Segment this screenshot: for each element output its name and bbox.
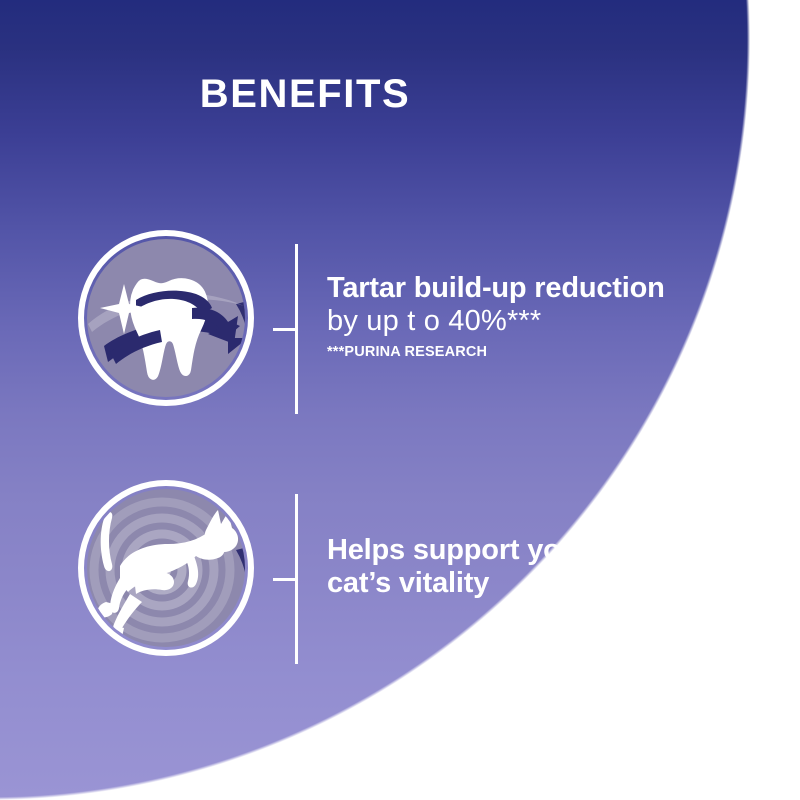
benefit-headline: Tartar build-up reduction [327,272,757,305]
benefit-footnote: ***PURINA RESEARCH [327,344,757,360]
benefit-headline: Helps support your [327,534,757,567]
divider-line [295,494,298,664]
benefit-subline: by up t o 40%*** [327,305,757,338]
tooth-sparkle-icon [76,228,256,408]
benefit-copy: Tartar build-up reduction by up t o 40%*… [327,272,757,360]
benefit-item-vitality: Helps support your cat’s vitality [0,478,800,678]
divider-line [295,244,298,414]
benefit-item-tartar: Tartar build-up reduction by up t o 40%*… [0,228,800,428]
benefit-copy: Helps support your cat’s vitality [327,534,757,600]
benefits-panel: BENEFITS [0,0,800,800]
benefit-headline-line2: cat’s vitality [327,567,757,600]
page-title: BENEFITS [0,74,800,114]
leaping-cat-ripple-icon [76,478,256,658]
